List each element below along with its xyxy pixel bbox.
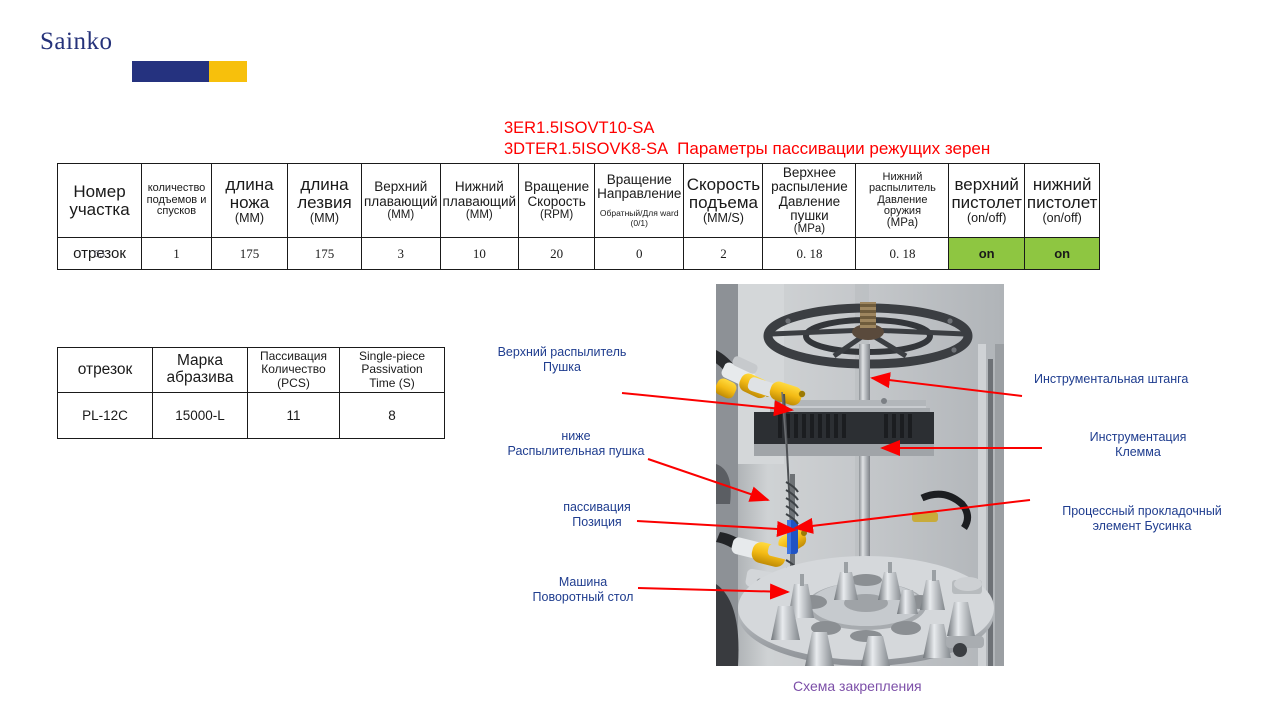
brand-logo: Sainko: [40, 28, 300, 62]
col-header-line: верхний: [951, 176, 1021, 194]
col-header-line: ножа: [214, 194, 285, 212]
annotation-instrumentation-clamp: Инструментация Клемма: [1038, 430, 1238, 460]
col-header-line: плавающий: [443, 195, 517, 209]
col-header-upper-float: Верхний плавающий (MM): [362, 164, 441, 238]
annotation-line: пассивация: [507, 500, 687, 515]
col-header-unit: (on/off): [951, 211, 1021, 225]
machine-photo-illustration: [716, 284, 1004, 666]
cell-passivation-qty: 11: [248, 393, 340, 439]
brand-name: Sainko: [40, 28, 112, 56]
page-title: Параметры пассивации режущих зерен: [677, 139, 990, 159]
cell-knife-length: 175: [212, 238, 288, 270]
col-header-lower-spray-pressure: Нижний распылитель Давление оружия (MPa): [856, 164, 949, 238]
abrasive-summary-table: отрезок Марка абразива Пассивация Количе…: [57, 347, 445, 439]
col-header-line: спусков: [144, 206, 209, 217]
col-header-abrasive-brand: Марка абразива: [153, 348, 248, 393]
cell-upper-float: 3: [362, 238, 441, 270]
col-header-segment: отрезок: [58, 348, 153, 393]
annotation-line: Распылительная пушка: [466, 444, 686, 459]
cell-lower-gun-status: on: [1024, 238, 1099, 270]
cell-rotation-direction: 0: [595, 238, 684, 270]
col-header-unit: (MM/S): [686, 211, 760, 225]
col-header-upper-gun: верхний пистолет (on/off): [949, 164, 1024, 238]
col-header-line: Скорость: [521, 195, 592, 209]
annotation-line: ниже: [466, 429, 686, 444]
col-header-blade-length: длина лезвия (MM): [288, 164, 362, 238]
col-header-unit: (MM): [214, 211, 285, 225]
annotation-process-bead: Процессный прокладочный элемент Бусинка: [1028, 504, 1256, 534]
col-header-single-piece-time: Single-piece Passivation Time (S): [340, 348, 445, 393]
col-header-lift-speed: Скорость подъема (MM/S): [684, 164, 763, 238]
cell-lower-float: 10: [440, 238, 519, 270]
col-header-line: Time (S): [345, 377, 439, 390]
annotation-passivation-position: пассивация Позиция: [507, 500, 687, 530]
table-header-row: Номер участка количество подъемов и спус…: [58, 164, 1100, 238]
cell-abrasive-brand: 15000-L: [153, 393, 248, 439]
col-header-line: нижний: [1027, 176, 1097, 194]
slide-title-block: 3ER1.5ISOVT10-SA 3DTER1.5ISOVK8-SA Парам…: [504, 118, 990, 159]
col-header-line: пистолет: [1027, 194, 1097, 212]
col-header-line: Номер: [60, 183, 139, 201]
annotation-line: элемент Бусинка: [1028, 519, 1256, 534]
col-header-knife-length: длина ножа (MM): [212, 164, 288, 238]
col-header-line: отрезок: [63, 362, 147, 379]
col-header-line: Пассивация: [253, 350, 334, 363]
col-header-rotation-speed: Вращение Скорость (RPM): [519, 164, 595, 238]
col-header-line: абразива: [158, 370, 242, 387]
col-header-lower-gun: нижний пистолет (on/off): [1024, 164, 1099, 238]
segment-overlap-number: 63: [94, 248, 105, 260]
col-header-line: Нижний: [443, 180, 517, 194]
col-header-line: распылитель: [858, 183, 946, 194]
annotation-line: Поворотный стол: [490, 590, 676, 605]
table-row: отрезок 63 1 175 175 3 10 20 0 2 0. 18 0…: [58, 238, 1100, 270]
brand-bar-blue-segment: [132, 61, 209, 82]
cell-rotation-speed: 20: [519, 238, 595, 270]
cell-lift-count: 1: [142, 238, 212, 270]
col-header-unit: Обратный/Для ward (0/1): [597, 208, 681, 228]
col-header-line: Давление пушки: [765, 195, 853, 223]
col-header-line: длина: [214, 176, 285, 194]
col-header-line: Вращение: [521, 180, 592, 194]
col-header-section-number: Номер участка: [58, 164, 142, 238]
col-header-unit: (MM): [364, 209, 438, 221]
col-header-lower-float: Нижний плавающий (MM): [440, 164, 519, 238]
col-header-line: длина: [290, 176, 359, 194]
cell-blade-length: 175: [288, 238, 362, 270]
col-header-line: участка: [60, 201, 139, 219]
col-header-unit: (MM): [443, 209, 517, 221]
col-header-unit: (on/off): [1027, 211, 1097, 225]
col-header-line: распыление: [765, 180, 853, 194]
col-header-line: Направление: [597, 187, 681, 201]
col-header-unit: (MPa): [858, 217, 946, 229]
col-header-line: Single-piece: [345, 350, 439, 363]
col-header-line: Верхнее: [765, 166, 853, 180]
col-header-upper-spray-pressure: Верхнее распыление Давление пушки (MPa): [763, 164, 856, 238]
col-header-line: Давление оружия: [858, 195, 946, 218]
cell-section-number: отрезок 63: [58, 238, 142, 270]
cell-upper-spray-pressure: 0. 18: [763, 238, 856, 270]
machine-photo: [716, 284, 1004, 666]
col-header-rotation-direction: Вращение Направление Обратный/Для ward (…: [595, 164, 684, 238]
col-header-line: Марка: [158, 353, 242, 370]
col-header-passivation-qty: Пассивация Количество (PCS): [248, 348, 340, 393]
col-header-line: Passivation: [345, 363, 439, 376]
annotation-line: Процессный прокладочный: [1028, 504, 1256, 519]
table-header-row: отрезок Марка абразива Пассивация Количе…: [58, 348, 445, 393]
product-code-line-1: 3ER1.5ISOVT10-SA: [504, 118, 990, 139]
col-header-line: лезвия: [290, 194, 359, 212]
product-code-line-2: 3DTER1.5ISOVK8-SA: [504, 140, 668, 159]
cell-single-piece-time: 8: [340, 393, 445, 439]
annotation-line: Позиция: [507, 515, 687, 530]
brand-bar: [132, 61, 247, 82]
annotation-line: Пушка: [452, 360, 672, 375]
annotation-line: Инструментальная штанга: [1034, 372, 1188, 387]
col-header-lift-count: количество подъемов и спусков: [142, 164, 212, 238]
annotation-line: Инструментация: [1038, 430, 1238, 445]
col-header-line: (PCS): [253, 377, 334, 390]
col-header-unit: (MM): [290, 211, 359, 225]
col-header-line: Верхний: [364, 180, 438, 194]
title-second-row: 3DTER1.5ISOVK8-SA Параметры пассивации р…: [504, 139, 990, 159]
annotation-upper-spray-gun: Верхний распылитель Пушка: [452, 345, 672, 375]
annotation-tool-bar: Инструментальная штанга: [1034, 372, 1188, 387]
cell-upper-gun-status: on: [949, 238, 1024, 270]
cell-lower-spray-pressure: 0. 18: [856, 238, 949, 270]
col-header-unit: (RPM): [521, 209, 592, 221]
table-row: PL-12C 15000-L 11 8: [58, 393, 445, 439]
col-header-line: пистолет: [951, 194, 1021, 212]
col-header-line: Скорость: [686, 176, 760, 194]
annotation-lower-spray-gun: ниже Распылительная пушка: [466, 429, 686, 459]
figure-caption: Схема закрепления: [793, 678, 922, 694]
col-header-line: Количество: [253, 363, 334, 376]
cell-segment: PL-12C: [58, 393, 153, 439]
cell-lift-speed: 2: [684, 238, 763, 270]
col-header-line: Вращение: [597, 173, 681, 187]
annotation-line: Машина: [490, 575, 676, 590]
annotation-line: Верхний распылитель: [452, 345, 672, 360]
brand-bar-yellow-segment: [209, 61, 247, 82]
col-header-line: подъема: [686, 194, 760, 212]
annotation-machine-rotary-table: Машина Поворотный стол: [490, 575, 676, 605]
annotation-line: Клемма: [1038, 445, 1238, 460]
passivation-parameters-table: Номер участка количество подъемов и спус…: [57, 163, 1100, 270]
col-header-line: плавающий: [364, 195, 438, 209]
col-header-unit: (MPa): [765, 223, 853, 235]
